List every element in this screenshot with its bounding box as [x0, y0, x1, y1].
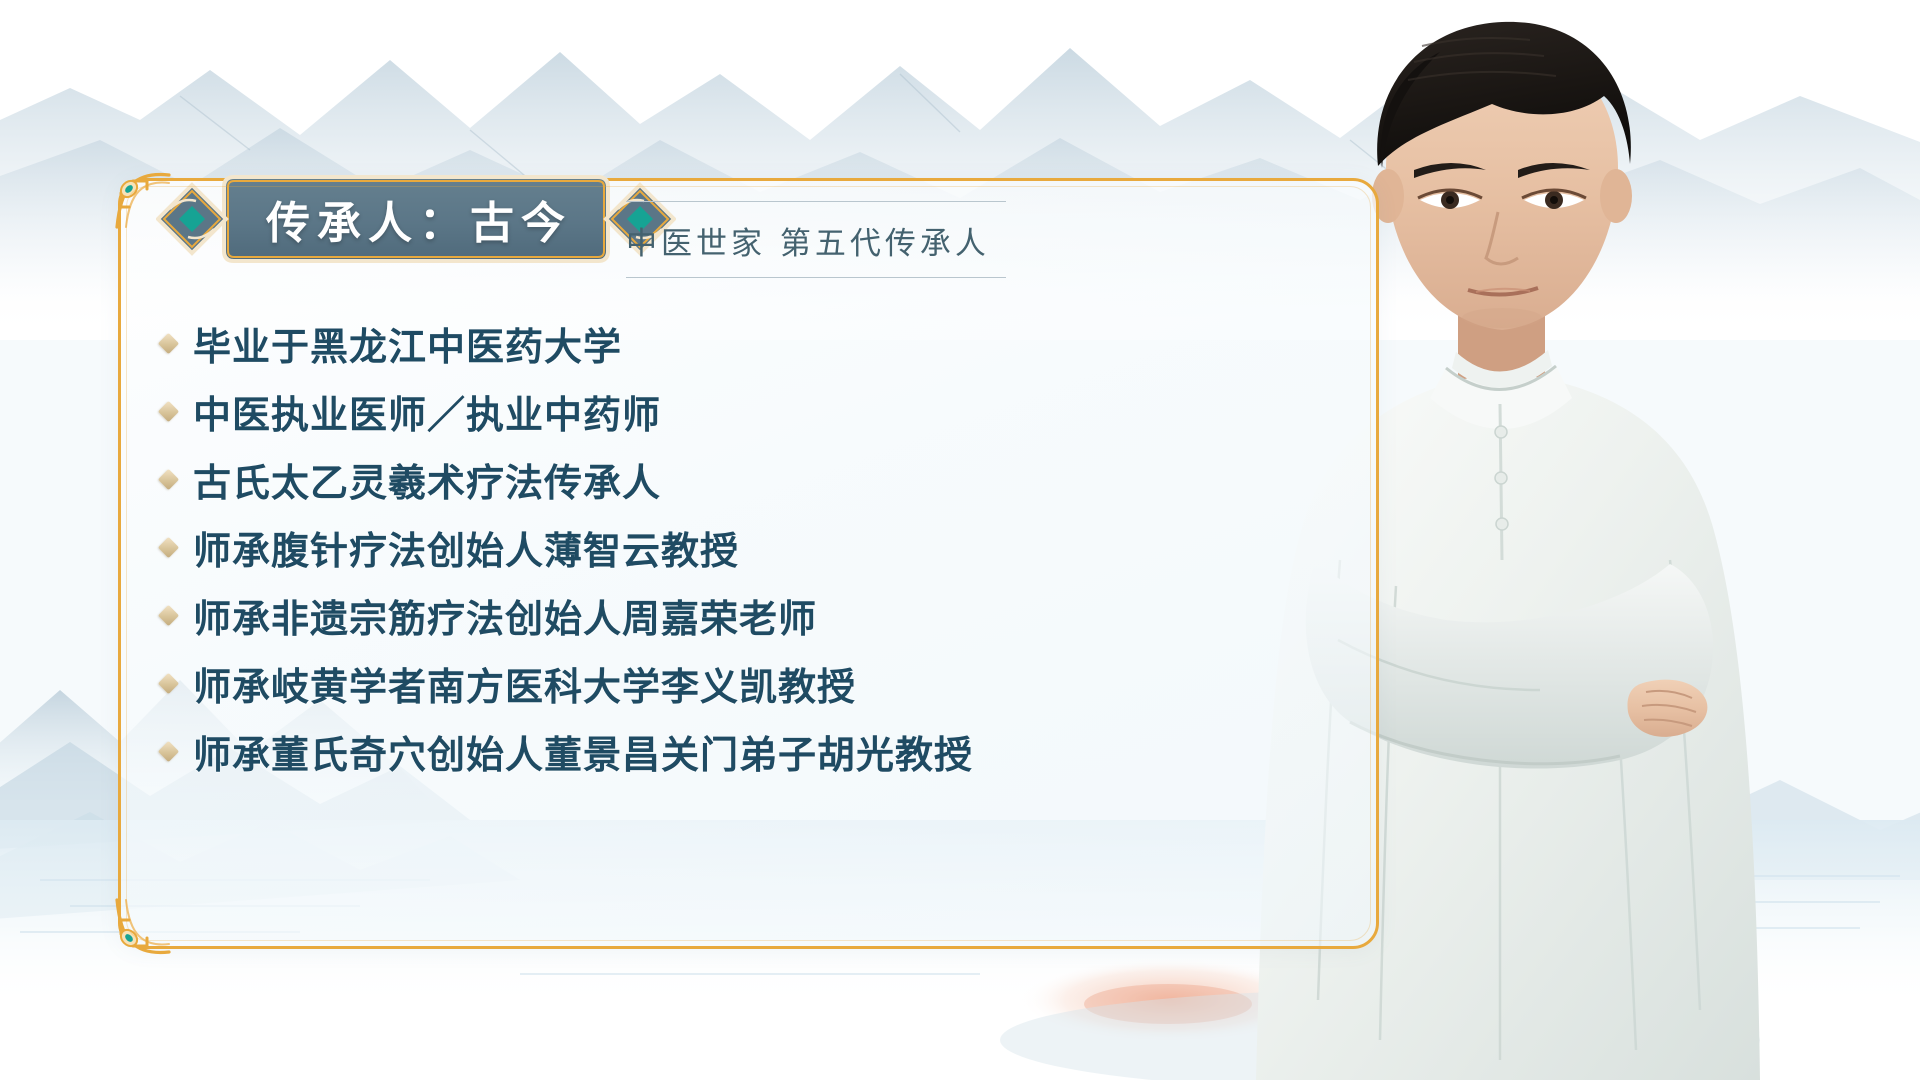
list-item-label: 师承岐黄学者南方医科大学李义凯教授 [193, 656, 856, 711]
diamond-bullet-icon [158, 604, 179, 625]
list-item-label: 古氏太乙灵羲术疗法传承人 [193, 452, 661, 507]
subtitle-divider-top [626, 201, 1006, 202]
plaque-title-label: 传承人：古今 [156, 159, 676, 279]
list-item: 古氏太乙灵羲术疗法传承人 [149, 445, 1359, 513]
subtitle-block: 中医世家 第五代传承人 [626, 201, 1096, 278]
subtitle-divider-bottom [626, 277, 1006, 278]
list-item: 师承岐黄学者南方医科大学李义凯教授 [149, 649, 1359, 717]
diamond-bullet-icon [158, 672, 179, 693]
frame-corner-ornament-bottom-left-icon [99, 894, 173, 968]
list-item-label: 毕业于黑龙江中医药大学 [193, 316, 622, 371]
list-item-label: 中医执业医师／执业中药师 [193, 384, 661, 439]
list-item-label: 师承腹针疗法创始人薄智云教授 [193, 520, 739, 575]
credentials-card: 传承人：古今 中医世家 第五代传承人 毕业于黑龙江中医药大学 中医执业医师／执业… [118, 178, 1379, 949]
credentials-list: 毕业于黑龙江中医药大学 中医执业医师／执业中药师 古氏太乙灵羲术疗法传承人 师承… [149, 309, 1359, 785]
diamond-bullet-icon [158, 536, 179, 557]
title-plaque: 传承人：古今 [156, 159, 676, 279]
diamond-bullet-icon [158, 740, 179, 761]
subtitle-label: 中医世家 第五代传承人 [626, 218, 1096, 263]
list-item: 中医执业医师／执业中药师 [149, 377, 1359, 445]
list-item-label: 师承非遗宗筋疗法创始人周嘉荣老师 [193, 588, 817, 643]
list-item-label: 师承董氏奇穴创始人董景昌关门弟子胡光教授 [193, 724, 973, 779]
slide-canvas: 传承人：古今 中医世家 第五代传承人 毕业于黑龙江中医药大学 中医执业医师／执业… [0, 0, 1920, 1080]
list-item: 毕业于黑龙江中医药大学 [149, 309, 1359, 377]
diamond-bullet-icon [158, 332, 179, 353]
list-item: 师承董氏奇穴创始人董景昌关门弟子胡光教授 [149, 717, 1359, 785]
list-item: 师承腹针疗法创始人薄智云教授 [149, 513, 1359, 581]
list-item: 师承非遗宗筋疗法创始人周嘉荣老师 [149, 581, 1359, 649]
diamond-bullet-icon [158, 468, 179, 489]
diamond-bullet-icon [158, 400, 179, 421]
